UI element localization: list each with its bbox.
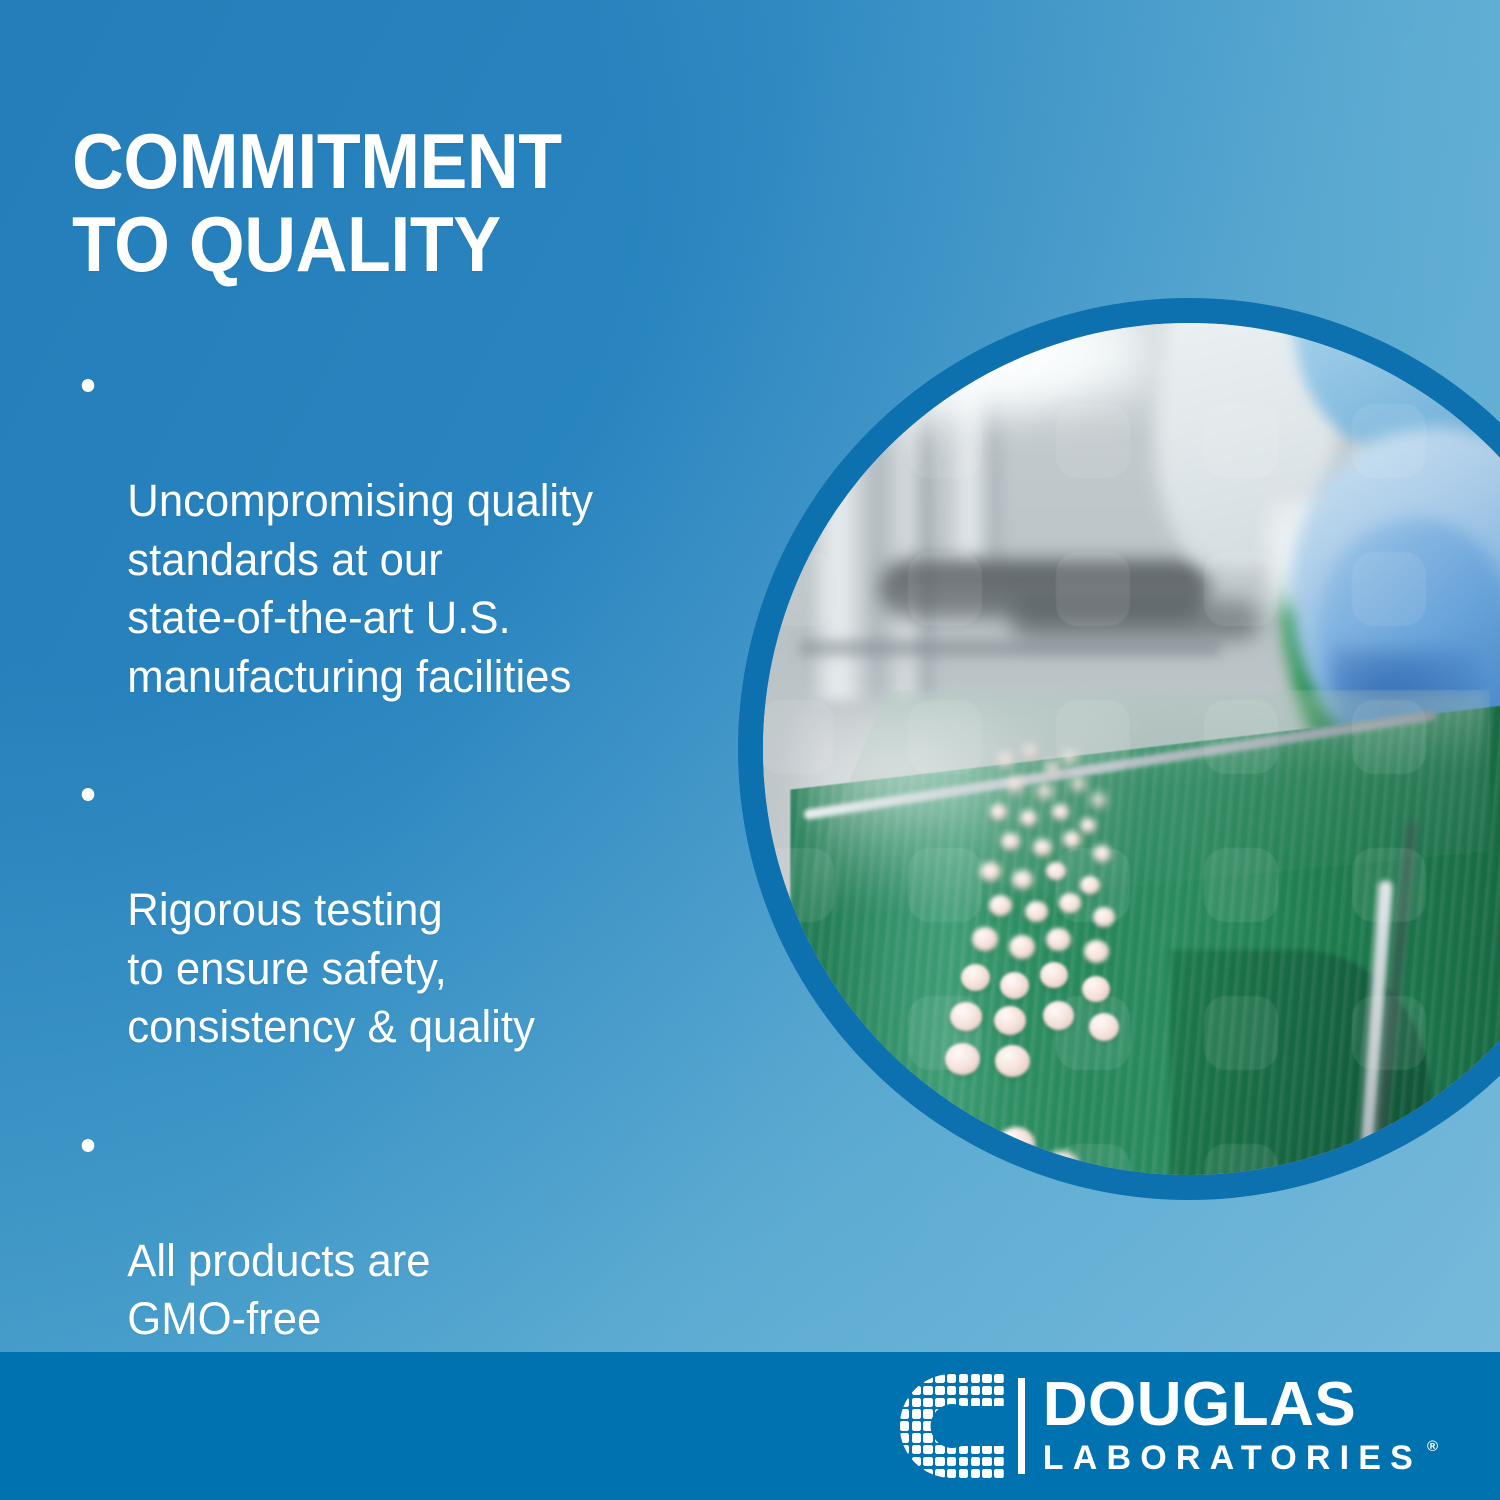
tablet [1080, 818, 1096, 833]
logo-name-secondary-text: LABORATORIES [1043, 1439, 1422, 1477]
watermark-cell [1204, 552, 1278, 626]
watermark-cell [908, 552, 982, 626]
logo-divider [1018, 1378, 1025, 1474]
manufacturing-photo [763, 323, 1500, 1175]
watermark-cell [763, 404, 834, 478]
douglas-dot-matrix-c-logo-icon [900, 1374, 1004, 1478]
marketing-graphic: COMMITMENT TO QUALITY Uncompromising qua… [0, 0, 1500, 1500]
footer-band: DOUGLAS LABORATORIES ® [0, 1352, 1500, 1500]
photo-circle-mask [763, 323, 1500, 1175]
watermark-cell [1352, 848, 1426, 922]
watermark-cell [908, 848, 982, 922]
logo-name-secondary: LABORATORIES ® [1043, 1441, 1422, 1477]
tablet [972, 927, 998, 951]
tablet [1025, 901, 1048, 922]
logo-wordmark: DOUGLAS LABORATORIES ® [1043, 1375, 1422, 1476]
bullet-dot-icon [82, 788, 95, 801]
watermark-cell [1056, 848, 1130, 922]
watermark-cell [908, 1144, 982, 1175]
tablet [990, 804, 1007, 820]
tablet [1023, 745, 1037, 758]
tablet [1063, 831, 1081, 848]
watermark-cell [1352, 552, 1426, 626]
tablet [1084, 940, 1109, 963]
watermark-cell [1204, 700, 1278, 774]
watermark-cell [1352, 700, 1426, 774]
tablet [961, 964, 990, 991]
watermark-cell [763, 1144, 834, 1175]
tablet [1040, 962, 1068, 988]
watermark-cell [908, 996, 982, 1070]
tablet [1052, 804, 1069, 820]
benefits-list: Uncompromising quality standards at our … [72, 355, 772, 1349]
text-panel: COMMITMENT TO QUALITY Uncompromising qua… [72, 120, 772, 1349]
tablet [997, 1127, 1035, 1162]
tablet [1037, 784, 1053, 799]
watermark-cell [1056, 404, 1130, 478]
tablet [989, 895, 1012, 916]
list-item-label: All products are GMO-free [127, 1235, 430, 1345]
watermark-cell [1204, 1144, 1278, 1175]
watermark-cell [763, 996, 834, 1070]
watermark-cell [1204, 996, 1278, 1070]
watermark-cell [763, 848, 834, 922]
bullet-dot-icon [82, 379, 95, 392]
page-title: COMMITMENT TO QUALITY [72, 120, 716, 285]
watermark-cell [908, 404, 982, 478]
tablet [1012, 870, 1033, 889]
watermark-cell [1352, 404, 1426, 478]
watermark-cell [1056, 1144, 1130, 1175]
tablet [1000, 972, 1029, 999]
watermark-cell [1352, 1144, 1426, 1175]
tablet [1020, 810, 1037, 826]
watermark-cell [1204, 848, 1278, 922]
list-item: All products are GMO-free [72, 1115, 751, 1349]
logo-name-primary: DOUGLAS [1043, 1375, 1422, 1435]
tablet [998, 753, 1013, 767]
tablet [980, 862, 1001, 881]
watermark-cell [1204, 404, 1278, 478]
watermark-cell [1056, 552, 1130, 626]
watermark-cell [1056, 700, 1130, 774]
tablet [1091, 793, 1106, 807]
watermark-cell [1056, 996, 1130, 1070]
list-item-label: Rigorous testing to ensure safety, consi… [127, 884, 535, 1052]
tablet [1001, 833, 1020, 850]
tablet [1071, 777, 1086, 791]
tablet [1045, 761, 1060, 775]
brand-logo: DOUGLAS LABORATORIES ® [900, 1372, 1422, 1480]
registered-trademark-icon: ® [1427, 1439, 1438, 1455]
watermark-cell [1352, 996, 1426, 1070]
list-item-label: Uncompromising quality standards at our … [127, 475, 593, 702]
watermark-cell [908, 700, 982, 774]
watermark-cell [763, 700, 834, 774]
tablet [995, 1045, 1030, 1077]
tablet [1046, 928, 1071, 951]
list-item: Rigorous testing to ensure safety, consi… [72, 764, 751, 1057]
watermark-cell [763, 552, 834, 626]
list-item: Uncompromising quality standards at our … [72, 355, 751, 706]
tablet [1033, 839, 1052, 856]
tablet [1007, 778, 1023, 793]
tablet [994, 1006, 1026, 1035]
bullet-dot-icon [82, 1139, 95, 1152]
tablet [1009, 935, 1035, 959]
